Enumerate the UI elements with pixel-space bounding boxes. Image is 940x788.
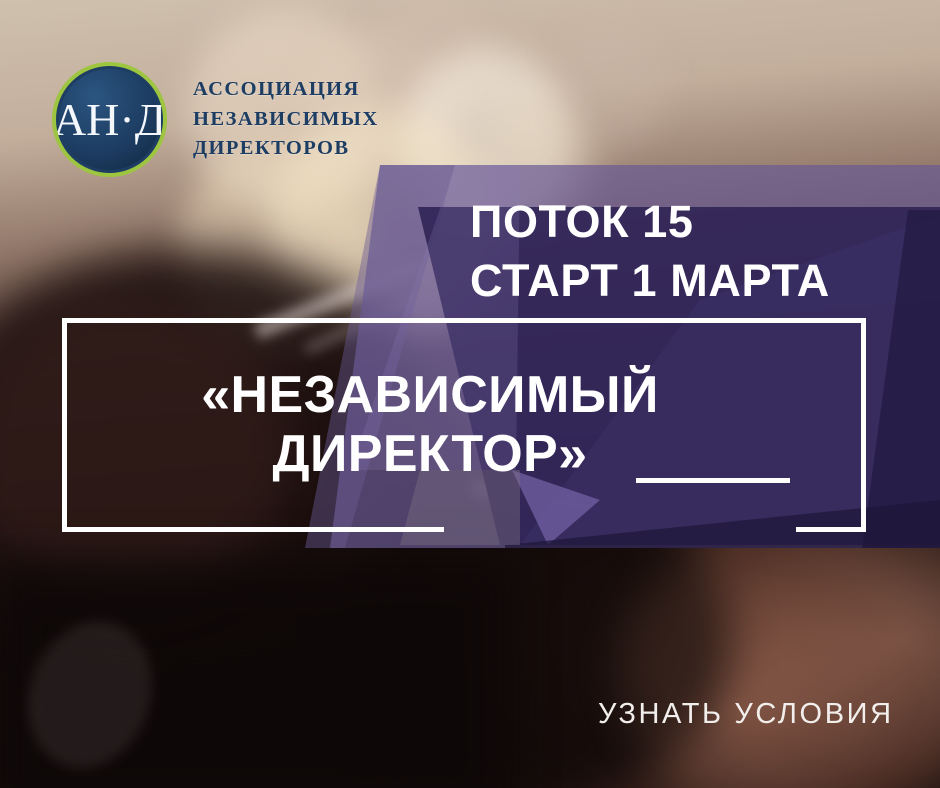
brand-name-line-2: НЕЗАВИСИМЫХ [193,105,379,135]
stream-number-text: ПОТОК 15 [470,192,910,251]
program-title: «НЕЗАВИСИМЫЙ ДИРЕКТОР» [100,366,760,485]
start-date-text: СТАРТ 1 МАРТА [470,251,910,310]
logo-initials: АН·Д [53,97,166,143]
program-title-line-2: ДИРЕКТОР» [100,425,760,484]
cta-link[interactable]: УЗНАТЬ УСЛОВИЯ [598,698,894,731]
brand-name-line-1: АССОЦИАЦИЯ [193,75,379,105]
promo-poster: АН·Д АССОЦИАЦИЯ НЕЗАВИСИМЫХ ДИРЕКТОРОВ П… [0,0,940,788]
logo-disc-icon: АН·Д [52,62,167,177]
brand-name-line-3: ДИРЕКТОРОВ [193,134,379,164]
announcement-block: ПОТОК 15 СТАРТ 1 МАРТА [470,192,910,311]
brand-name: АССОЦИАЦИЯ НЕЗАВИСИМЫХ ДИРЕКТОРОВ [193,75,379,165]
program-title-line-1: «НЕЗАВИСИМЫЙ [100,366,760,425]
brand-logo: АН·Д АССОЦИАЦИЯ НЕЗАВИСИМЫХ ДИРЕКТОРОВ [52,62,379,177]
